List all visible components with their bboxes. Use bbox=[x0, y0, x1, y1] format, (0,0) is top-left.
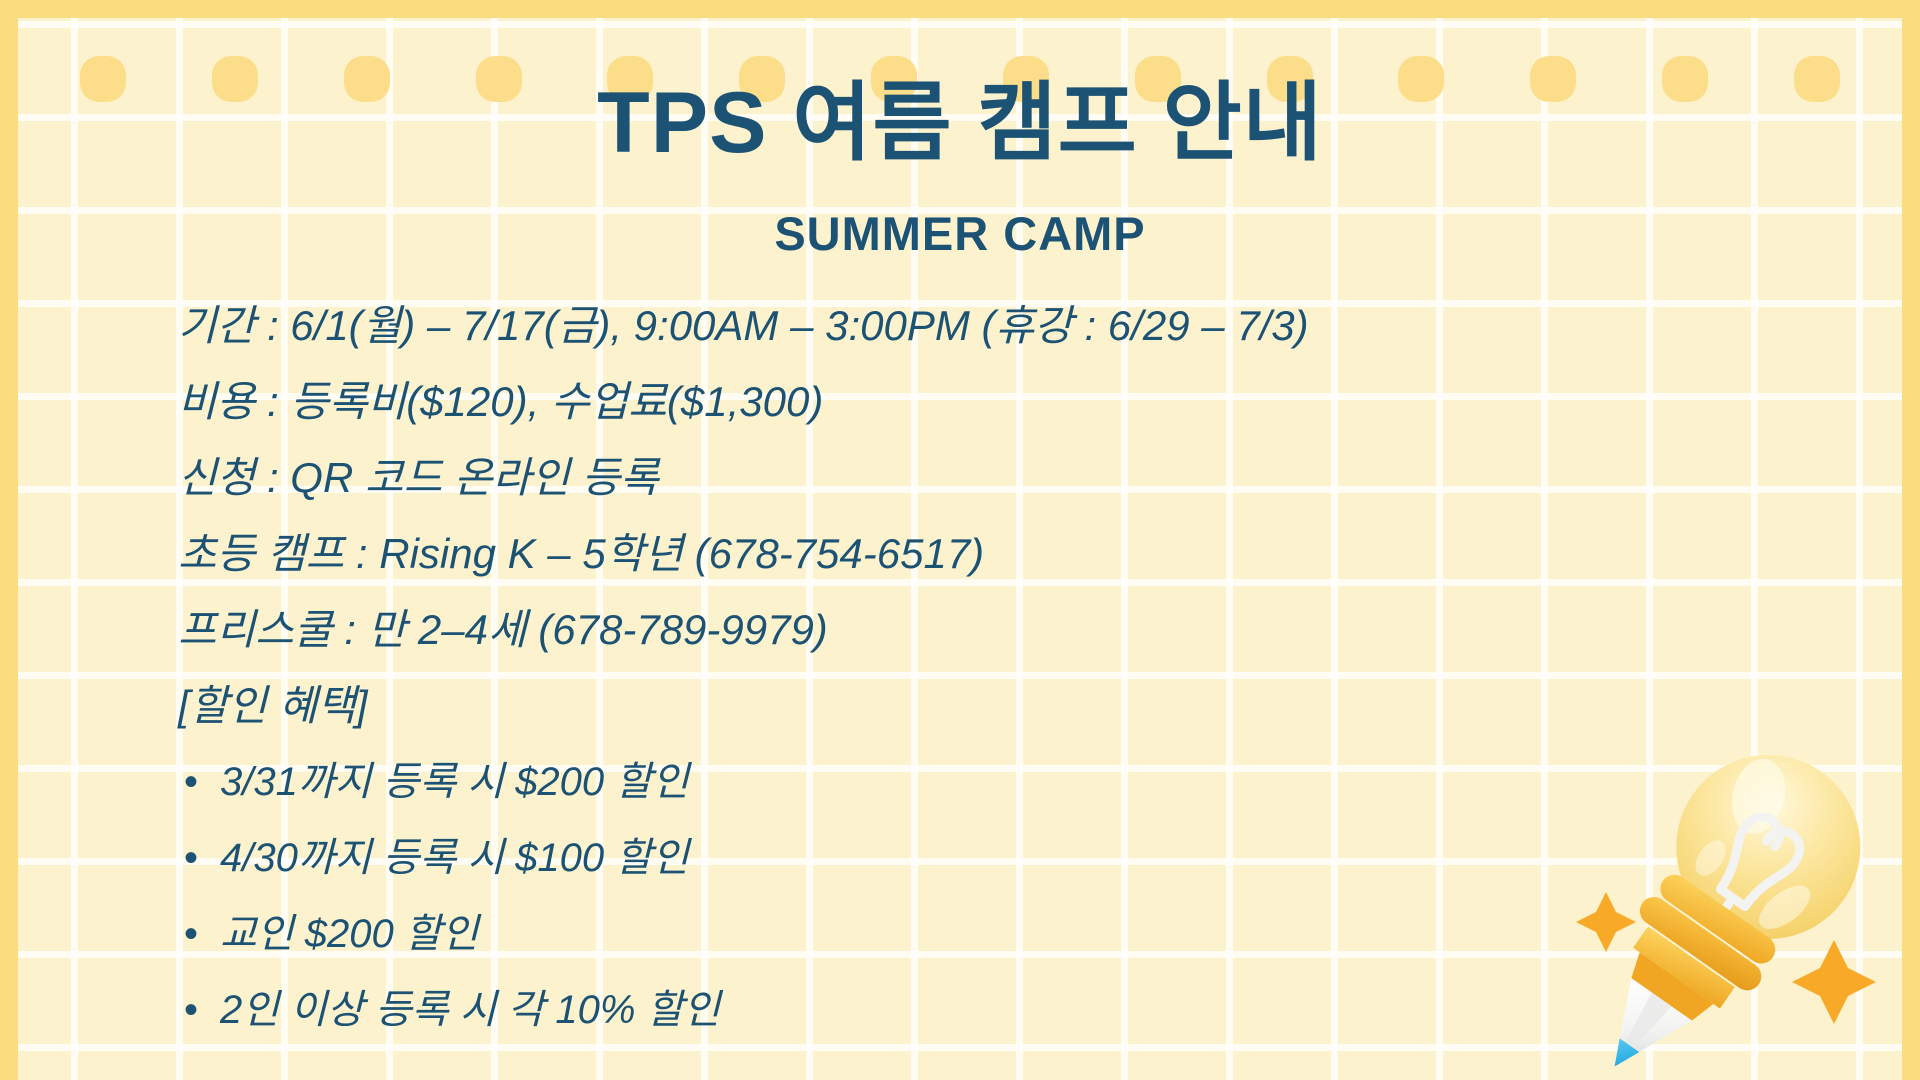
poster-sheet: TPS 여름 캠프 안내 SUMMER CAMP 기간 : 6/1(월) – 7… bbox=[18, 18, 1902, 1080]
info-line: 초등 캠프 : Rising K – 5학년 (678-754-6517) bbox=[178, 516, 1782, 592]
discount-item: •3/31까지 등록 시 $200 할인 bbox=[178, 744, 1782, 820]
bullet-icon: • bbox=[184, 972, 198, 1048]
info-line: 신청 : QR 코드 온라인 등록 bbox=[178, 440, 1782, 516]
info-line: 기간 : 6/1(월) – 7/17(금), 9:00AM – 3:00PM (… bbox=[178, 288, 1782, 364]
bullet-icon: • bbox=[184, 744, 198, 820]
bullet-icon: • bbox=[184, 896, 198, 972]
info-line: 비용 : 등록비($120), 수업료($1,300) bbox=[178, 364, 1782, 440]
info-line: 프리스쿨 : 만 2–4세 (678-789-9979) bbox=[178, 592, 1782, 668]
discount-item: •4/30까지 등록 시 $100 할인 bbox=[178, 820, 1782, 896]
page-subtitle: SUMMER CAMP bbox=[18, 210, 1902, 257]
lightbulb-pencil-icon bbox=[1562, 726, 1892, 1080]
poster-body: 기간 : 6/1(월) – 7/17(금), 9:00AM – 3:00PM (… bbox=[178, 288, 1782, 1048]
discount-item-label: 4/30까지 등록 시 $100 할인 bbox=[220, 836, 689, 880]
discount-item-label: 교인 $200 할인 bbox=[220, 912, 478, 956]
bullet-icon: • bbox=[184, 820, 198, 896]
discount-item-label: 2인 이상 등록 시 각 10% 할인 bbox=[220, 988, 720, 1032]
discount-bullet-list: •3/31까지 등록 시 $200 할인•4/30까지 등록 시 $100 할인… bbox=[178, 744, 1782, 1048]
discount-item: •2인 이상 등록 시 각 10% 할인 bbox=[178, 972, 1782, 1048]
poster-canvas: TPS 여름 캠프 안내 SUMMER CAMP 기간 : 6/1(월) – 7… bbox=[0, 0, 1920, 1080]
info-line: [할인 혜택] bbox=[178, 668, 1782, 744]
page-title: TPS 여름 캠프 안내 bbox=[18, 80, 1902, 166]
discount-item: •교인 $200 할인 bbox=[178, 896, 1782, 972]
info-line-list: 기간 : 6/1(월) – 7/17(금), 9:00AM – 3:00PM (… bbox=[178, 288, 1782, 744]
discount-item-label: 3/31까지 등록 시 $200 할인 bbox=[220, 760, 689, 804]
